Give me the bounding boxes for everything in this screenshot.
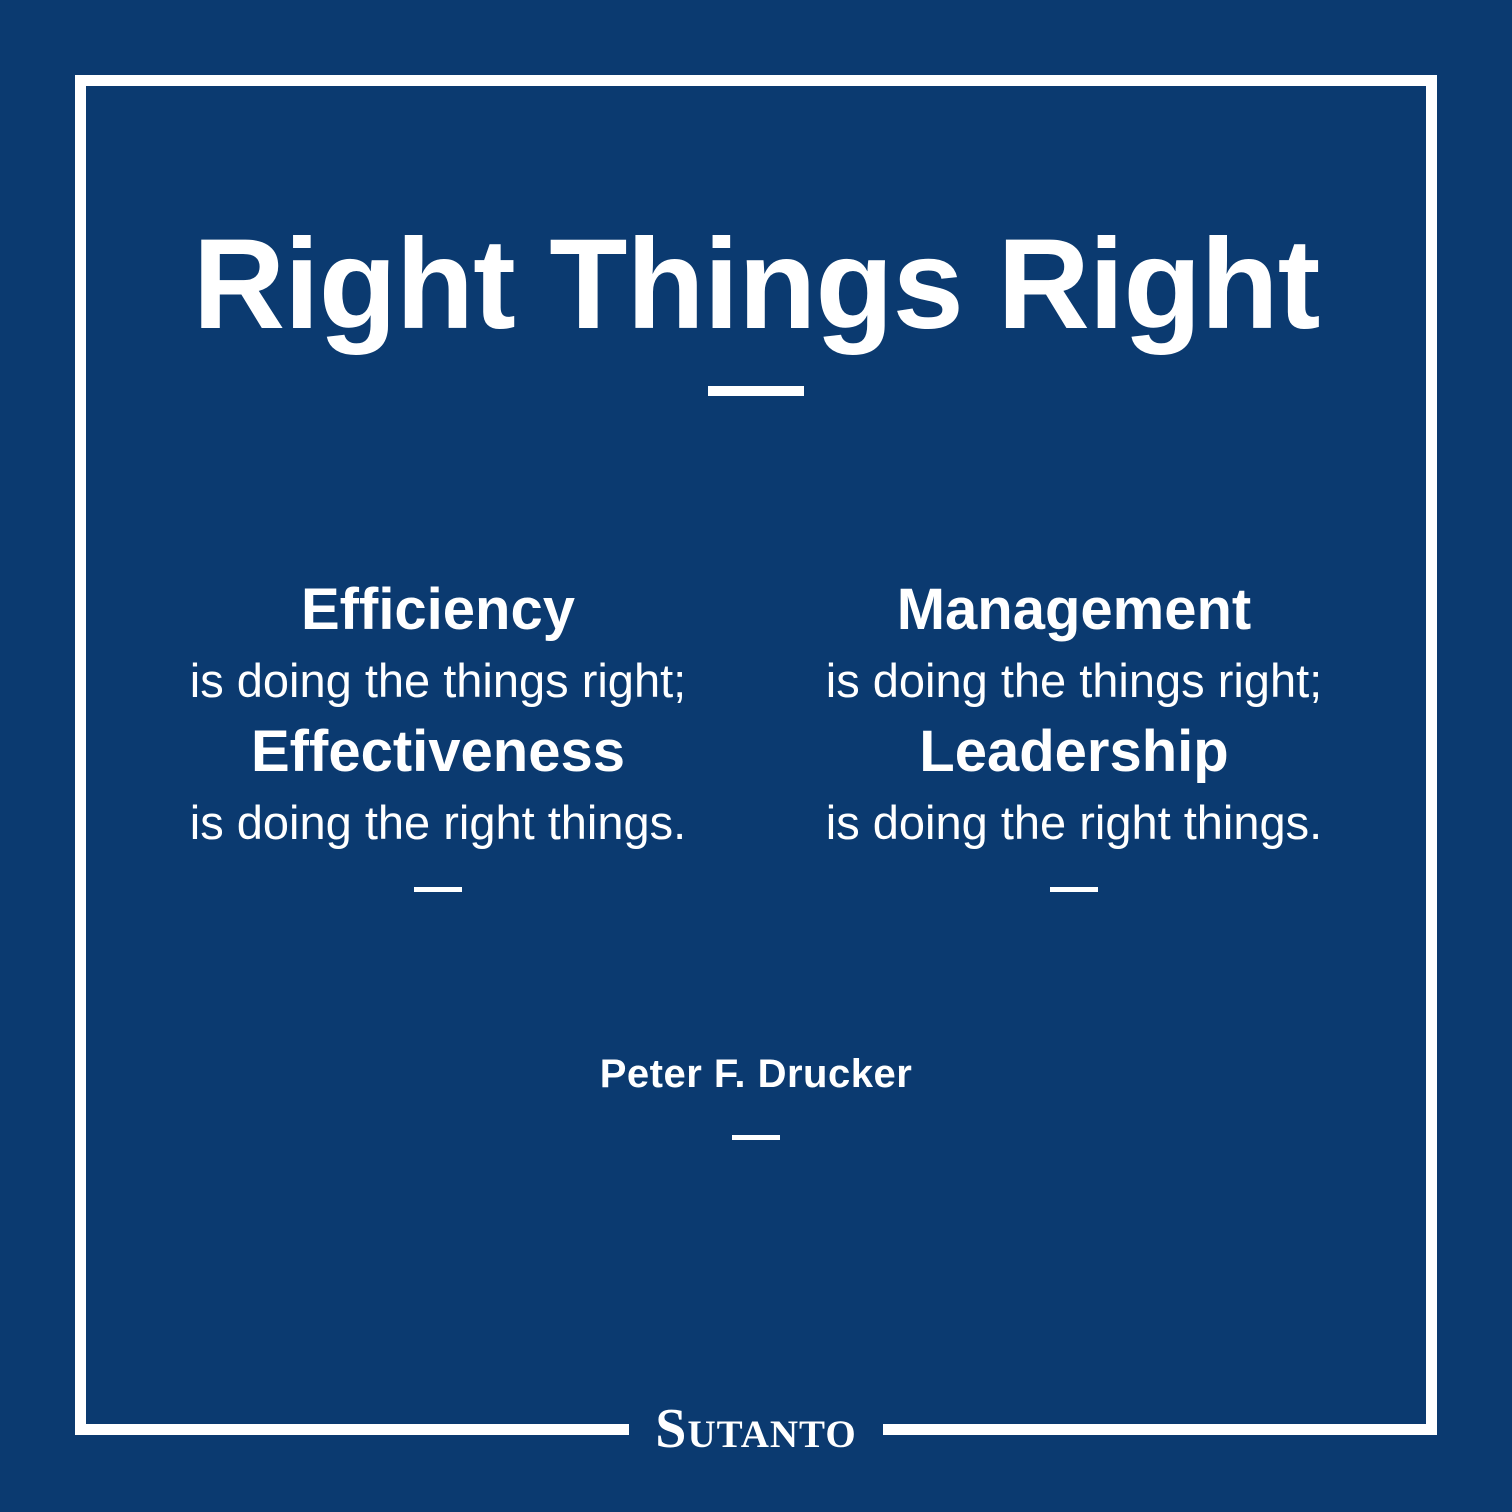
definition-management: is doing the things right; [756,653,1392,708]
title-block: Right Things Right [0,218,1512,396]
term-leadership: Leadership [756,720,1392,785]
definition-efficiency: is doing the things right; [120,653,756,708]
quote-columns: Efficiency is doing the things right; Ef… [120,578,1392,892]
brand-wordmark: Sutanto [629,1392,882,1466]
definition-leadership: is doing the right things. [756,795,1392,850]
term-effectiveness: Effectiveness [120,720,756,785]
quote-author: Peter F. Drucker [0,1052,1512,1097]
attribution-divider-icon [732,1135,780,1140]
left-column-divider-icon [414,887,462,892]
title-divider-icon [708,386,804,396]
attribution-block: Peter F. Drucker [0,1052,1512,1140]
term-management: Management [756,578,1392,643]
right-column-divider-icon [1050,887,1098,892]
quote-column-right: Management is doing the things right; Le… [756,578,1392,892]
quote-column-left: Efficiency is doing the things right; Ef… [120,578,756,892]
definition-effectiveness: is doing the right things. [120,795,756,850]
footer-wordmark-area: Sutanto [0,1392,1512,1466]
page-title: Right Things Right [0,218,1512,352]
quote-poster: Right Things Right Efficiency is doing t… [0,0,1512,1512]
term-efficiency: Efficiency [120,578,756,643]
